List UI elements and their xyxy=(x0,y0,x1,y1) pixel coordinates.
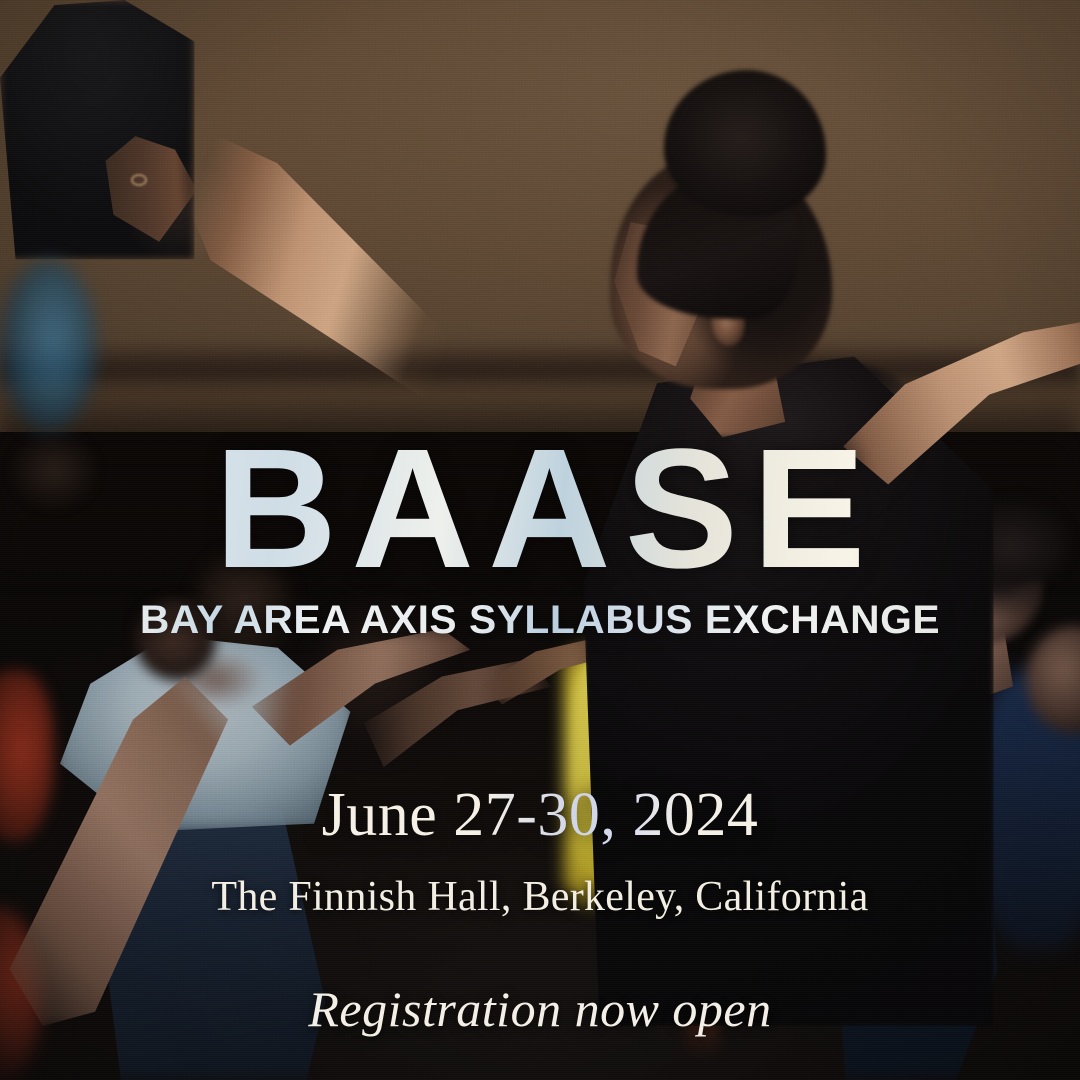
event-dates: June 27-30, 2024 xyxy=(0,784,1080,846)
event-poster: BAASE BAY AREA AXIS SYLLABUS EXCHANGE Ju… xyxy=(0,0,1080,1080)
page-title: BAASE xyxy=(0,424,1080,594)
registration-status: Registration now open xyxy=(0,984,1080,1034)
left-blue-light-accent xyxy=(0,259,97,432)
event-location: The Finnish Hall, Berkeley, California xyxy=(0,876,1080,918)
brand-subtitle: BAY AREA AXIS SYLLABUS EXCHANGE xyxy=(0,600,1080,640)
center-dancer-finger-ring xyxy=(131,174,147,186)
